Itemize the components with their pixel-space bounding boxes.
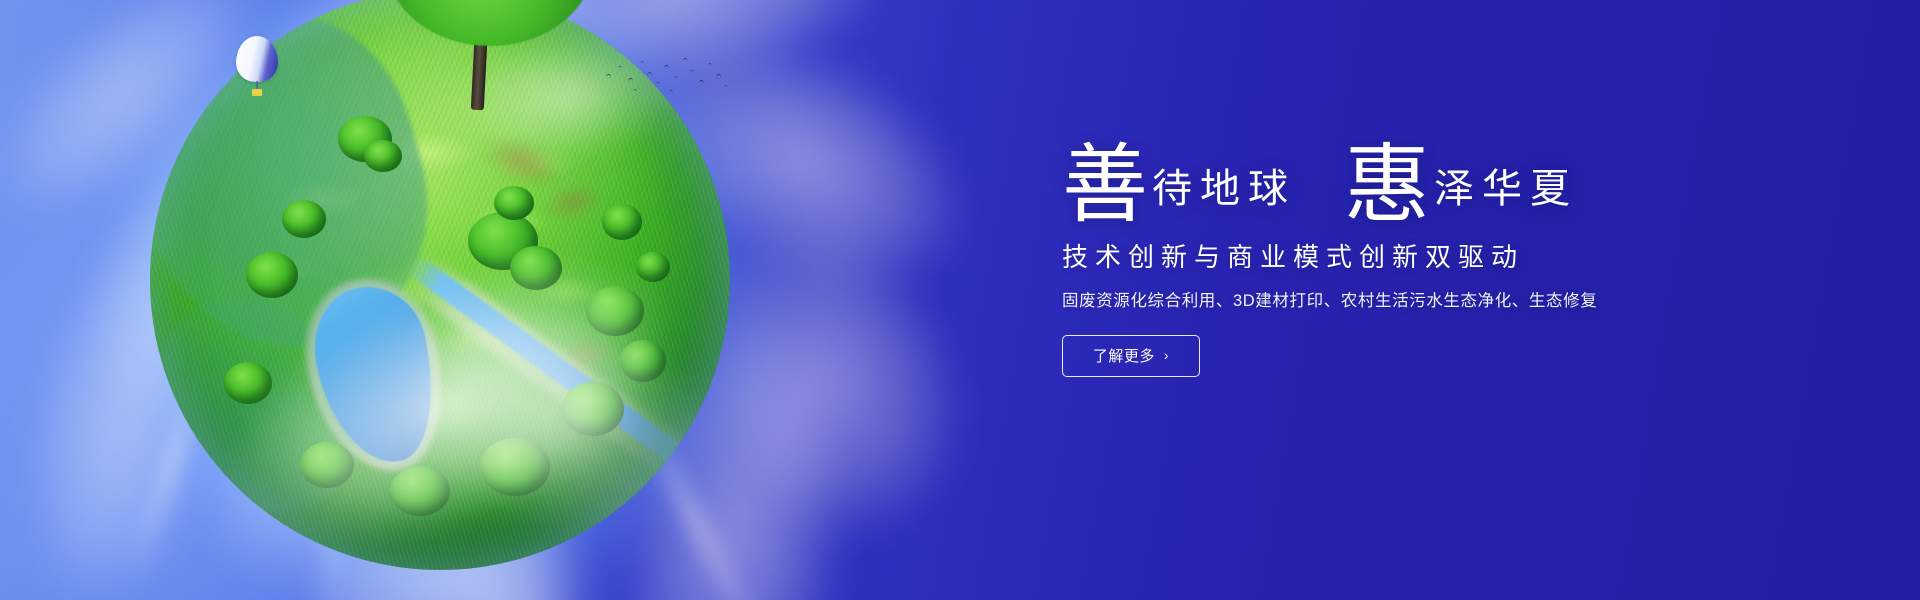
learn-more-button[interactable]: 了解更多 › bbox=[1062, 335, 1200, 377]
hero-headline: 善 待地球 惠 泽华夏 bbox=[1062, 140, 1802, 219]
chevron-right-icon: › bbox=[1164, 348, 1169, 362]
bird-icon bbox=[716, 74, 721, 78]
headline-lead-char-2: 惠 bbox=[1344, 146, 1430, 225]
bird-icon bbox=[656, 82, 660, 85]
bird-icon bbox=[708, 63, 712, 66]
hero-content: 善 待地球 惠 泽华夏 技术创新与商业模式创新双驱动 固废资源化综合利用、3D建… bbox=[1062, 140, 1802, 377]
bird-icon bbox=[633, 89, 637, 92]
tree-canopy bbox=[282, 200, 326, 238]
bird-icon bbox=[674, 76, 678, 79]
balloon-envelope bbox=[236, 36, 278, 82]
tree-canopy bbox=[636, 252, 670, 282]
bird-icon bbox=[606, 74, 611, 78]
bird-icon bbox=[690, 70, 694, 73]
headline-phrase-2: 惠 泽华夏 bbox=[1344, 140, 1578, 219]
bird-icon bbox=[647, 72, 652, 76]
bird-icon bbox=[724, 85, 728, 88]
learn-more-label: 了解更多 bbox=[1093, 345, 1155, 366]
headline-tail-chars-2: 泽华夏 bbox=[1434, 169, 1578, 209]
hero-banner: 善 待地球 惠 泽华夏 技术创新与商业模式创新双驱动 固废资源化综合利用、3D建… bbox=[0, 0, 1920, 600]
headline-tail-chars-1: 待地球 bbox=[1152, 169, 1296, 209]
headline-lead-char-1: 善 bbox=[1062, 146, 1148, 225]
bird-icon bbox=[618, 66, 622, 69]
tree-canopy bbox=[364, 140, 402, 172]
bird-icon bbox=[669, 90, 673, 93]
hero-subheadline: 技术创新与商业模式创新双驱动 bbox=[1062, 241, 1802, 274]
bird-icon bbox=[664, 65, 669, 69]
hero-description: 固废资源化综合利用、3D建材打印、农村生活污水生态净化、生态修复 bbox=[1062, 290, 1802, 313]
bird-flock bbox=[600, 52, 730, 98]
tree-canopy bbox=[602, 204, 642, 240]
headline-phrase-1: 善 待地球 bbox=[1062, 140, 1296, 219]
bird-icon bbox=[628, 78, 633, 82]
bird-icon bbox=[699, 80, 704, 84]
tree-canopy bbox=[494, 186, 534, 220]
bird-icon bbox=[683, 58, 688, 62]
bird-icon bbox=[640, 61, 644, 64]
balloon-basket bbox=[252, 89, 262, 96]
hot-air-balloon-icon bbox=[236, 36, 278, 98]
tree-canopy bbox=[246, 252, 298, 298]
